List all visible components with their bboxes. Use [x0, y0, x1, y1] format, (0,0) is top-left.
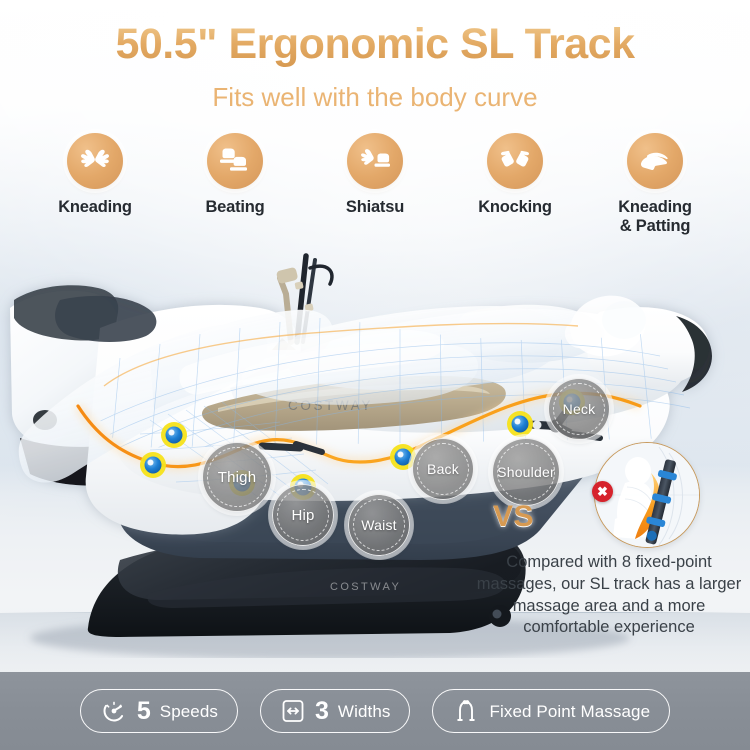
- mode-kneading-patting: Kneading & Patting: [585, 133, 725, 237]
- neck-point-label: Neck: [563, 401, 596, 417]
- mode-label-line1: Kneading: [585, 198, 725, 217]
- widths-unit: Widths: [338, 703, 391, 720]
- base-brand-text: COSTWAY: [330, 581, 401, 593]
- comparison-text: Compared with 8 fixed-point massages, ou…: [470, 552, 748, 639]
- roller-node: [161, 422, 187, 448]
- hip-point-label: Hip: [291, 507, 314, 524]
- mode-label: Knocking: [445, 198, 585, 217]
- vs-label: VS: [493, 500, 534, 534]
- feature-fixed-point[interactable]: Fixed Point Massage: [432, 689, 670, 733]
- mode-beating: Beating: [165, 133, 305, 217]
- feature-bar: 5 Speeds 3 Widths: [0, 672, 750, 750]
- feature-speeds[interactable]: 5 Speeds: [80, 689, 238, 733]
- thigh-point-label: Thigh: [218, 469, 257, 486]
- shoulder-point-label: Shoulder: [497, 464, 555, 480]
- waist-point-label: Waist: [361, 517, 396, 533]
- beating-fists-icon: [207, 133, 263, 189]
- product-feature-image: 50.5" Ergonomic SL Track Fits well with …: [0, 0, 750, 750]
- thigh-point[interactable]: Thigh: [202, 442, 272, 512]
- mode-label: Shiatsu: [305, 198, 445, 217]
- page-subtitle: Fits well with the body curve: [0, 82, 750, 113]
- speedometer-icon: [100, 697, 128, 725]
- back-point-label: Back: [427, 461, 459, 477]
- mode-label: Kneading: [25, 198, 165, 217]
- massage-modes-row: Kneading Beating: [0, 133, 750, 237]
- waist-point[interactable]: Waist: [348, 494, 410, 556]
- width-arrows-icon: [280, 697, 306, 725]
- kneading-hands-icon: [67, 133, 123, 189]
- fixed-point-label: Fixed Point Massage: [489, 703, 650, 720]
- mode-kneading: Kneading: [25, 133, 165, 217]
- speeds-unit: Speeds: [160, 703, 218, 720]
- x-mark-icon: ✖: [592, 481, 613, 502]
- mode-label: Kneading & Patting: [585, 198, 725, 237]
- shiatsu-hands-icon: [347, 133, 403, 189]
- widths-count: 3: [315, 699, 329, 724]
- roller-node: [140, 452, 166, 478]
- page-title: 50.5" Ergonomic SL Track: [0, 22, 750, 67]
- mode-label: Beating: [165, 198, 305, 217]
- hip-point[interactable]: Hip: [272, 484, 334, 546]
- neck-point[interactable]: Neck: [548, 378, 610, 440]
- back-point[interactable]: Back: [412, 438, 474, 500]
- fixed-point-roller-icon: [452, 697, 480, 725]
- mode-knocking: Knocking: [445, 133, 585, 217]
- speeds-count: 5: [137, 699, 151, 724]
- mode-label-line2: & Patting: [585, 217, 725, 236]
- mode-shiatsu: Shiatsu: [305, 133, 445, 217]
- roller-node: [507, 411, 533, 437]
- knocking-fists-icon: [487, 133, 543, 189]
- shoulder-point[interactable]: Shoulder: [492, 438, 560, 506]
- kneading-patting-hand-icon: [627, 133, 683, 189]
- feature-widths[interactable]: 3 Widths: [260, 689, 410, 733]
